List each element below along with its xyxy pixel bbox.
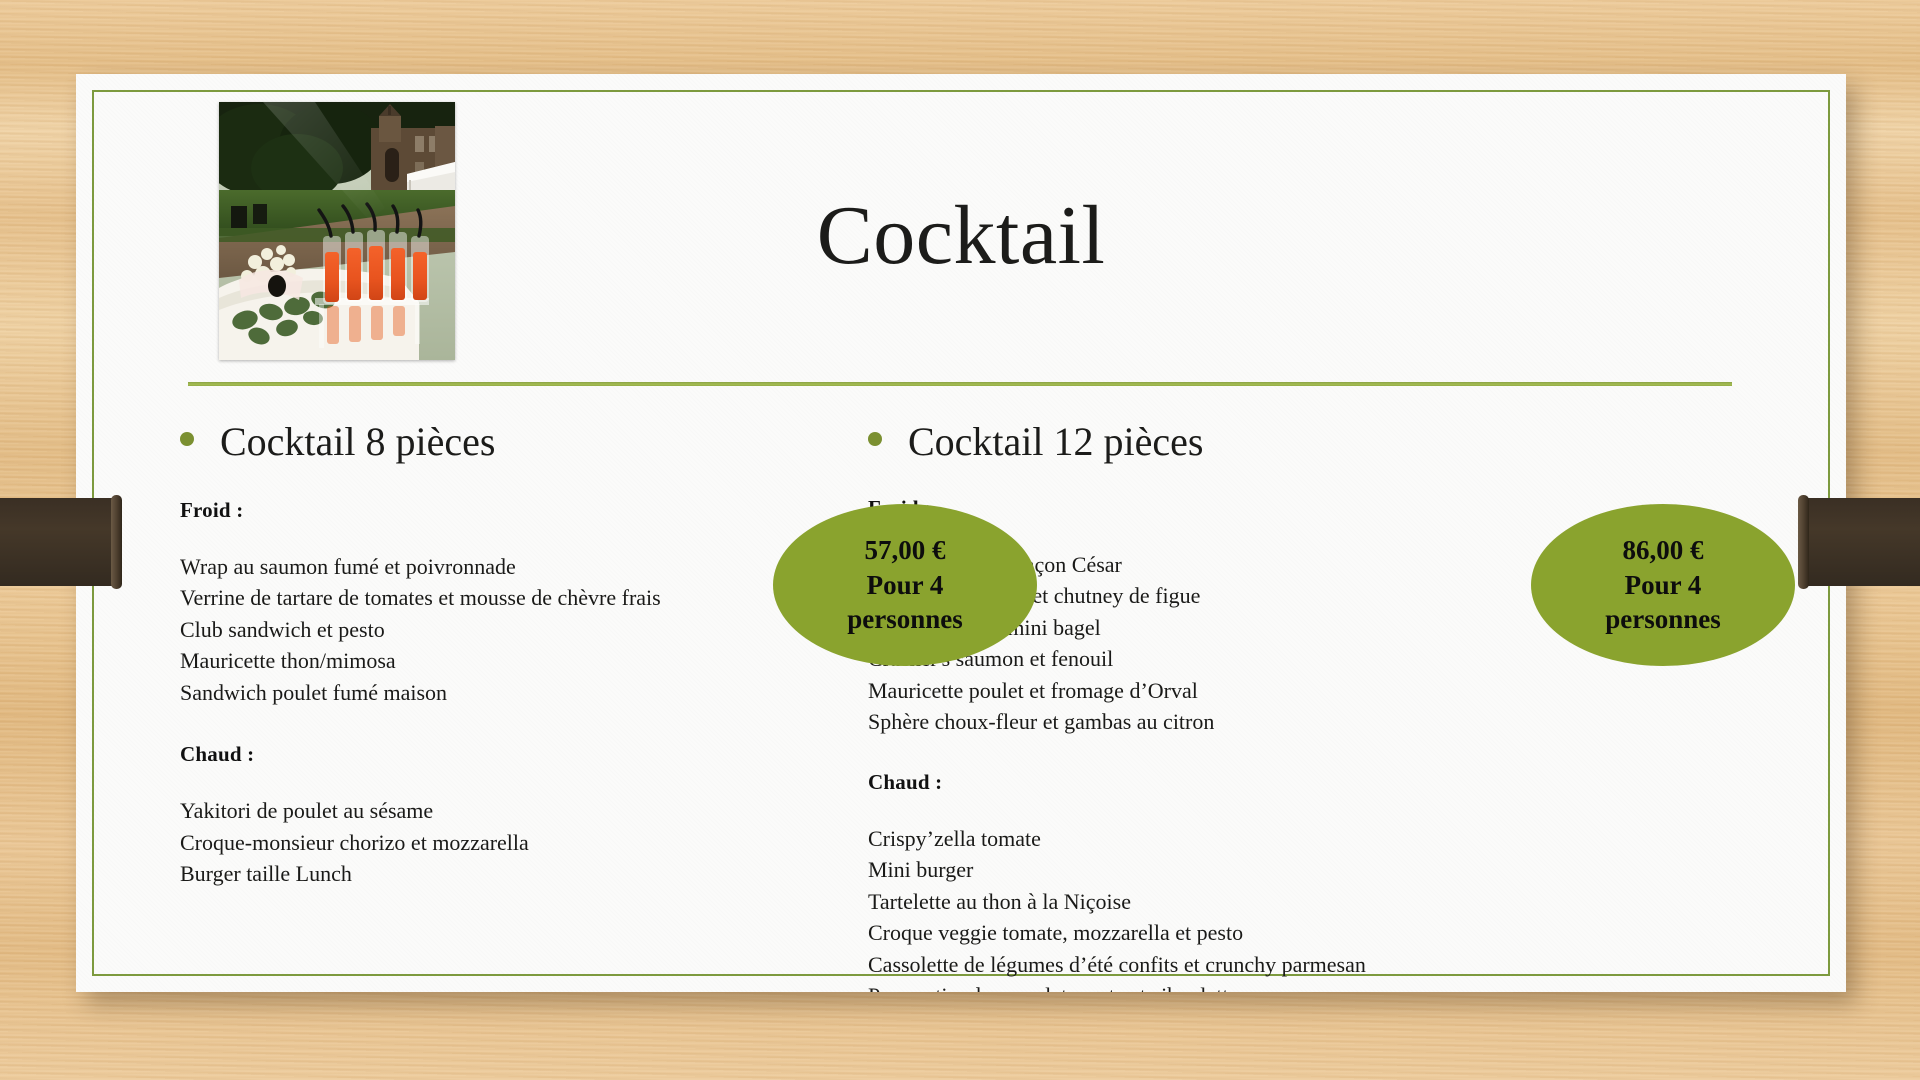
- list-item: Mini burger: [868, 854, 1846, 885]
- list-item: Croque-monsieur chorizo et mozzarella: [180, 827, 836, 858]
- column-heading-12-pieces: Cocktail 12 pièces: [868, 420, 1846, 464]
- price-badge-8-pieces: 57,00 € Pour 4 personnes: [773, 504, 1037, 666]
- section-label-chaud: Chaud :: [180, 742, 836, 767]
- list-item: Mauricette poulet et fromage d’Orval: [868, 675, 1846, 706]
- price-serves-line-2: personnes: [847, 602, 963, 637]
- list-item: Croque veggie tomate, mozzarella et pest…: [868, 917, 1846, 948]
- column-heading-label: Cocktail 8 pièces: [220, 420, 495, 464]
- price-serves-line-2: personnes: [1605, 602, 1721, 637]
- list-item: Sandwich poulet fumé maison: [180, 677, 836, 708]
- price-amount: 57,00 €: [865, 533, 946, 568]
- list-item: Sphère choux-fleur et gambas au citron: [868, 706, 1846, 737]
- list-item: Parmentier de porcelet, agata et ciboule…: [868, 980, 1846, 992]
- title-divider-rule: [188, 382, 1732, 386]
- price-serves-line-1: Pour 4: [867, 568, 944, 603]
- list-item: Club sandwich et pesto: [180, 614, 836, 645]
- list-item: Wrap au saumon fumé et poivronnade: [180, 551, 836, 582]
- menu-column-8-pieces: Cocktail 8 pièces Froid : Wrap au saumon…: [76, 420, 836, 992]
- bullet-dot-icon: [180, 432, 194, 446]
- dish-list-chaud: Yakitori de poulet au sésame Croque-mons…: [180, 795, 836, 889]
- column-heading-8-pieces: Cocktail 8 pièces: [180, 420, 836, 464]
- list-item: Tartelette au thon à la Niçoise: [868, 886, 1846, 917]
- list-item: Burger taille Lunch: [180, 858, 836, 889]
- dish-list-froid: Wrap au saumon fumé et poivronnade Verri…: [180, 551, 836, 708]
- list-item: Mauricette thon/mimosa: [180, 645, 836, 676]
- decorative-ribbon-left: [0, 498, 122, 586]
- list-item: Crispy’zella tomate: [868, 823, 1846, 854]
- list-item: Yakitori de poulet au sésame: [180, 795, 836, 826]
- presentation-slide: Cocktail Cocktail 8 pièces Froid : Wrap …: [76, 74, 1846, 992]
- dish-list-chaud: Crispy’zella tomate Mini burger Tartelet…: [868, 823, 1846, 992]
- list-item: Cassolette de légumes d’été confits et c…: [868, 949, 1846, 980]
- list-item: Verrine de tartare de tomates et mousse …: [180, 582, 836, 613]
- bullet-dot-icon: [868, 432, 882, 446]
- section-label-froid: Froid :: [180, 498, 836, 523]
- price-serves-line-1: Pour 4: [1625, 568, 1702, 603]
- price-amount: 86,00 €: [1623, 533, 1704, 568]
- menu-columns: Cocktail 8 pièces Froid : Wrap au saumon…: [76, 420, 1846, 992]
- section-label-chaud: Chaud :: [868, 770, 1846, 795]
- decorative-ribbon-right: [1798, 498, 1920, 586]
- price-badge-12-pieces: 86,00 € Pour 4 personnes: [1531, 504, 1795, 666]
- column-heading-label: Cocktail 12 pièces: [908, 420, 1203, 464]
- page-title: Cocktail: [92, 194, 1830, 278]
